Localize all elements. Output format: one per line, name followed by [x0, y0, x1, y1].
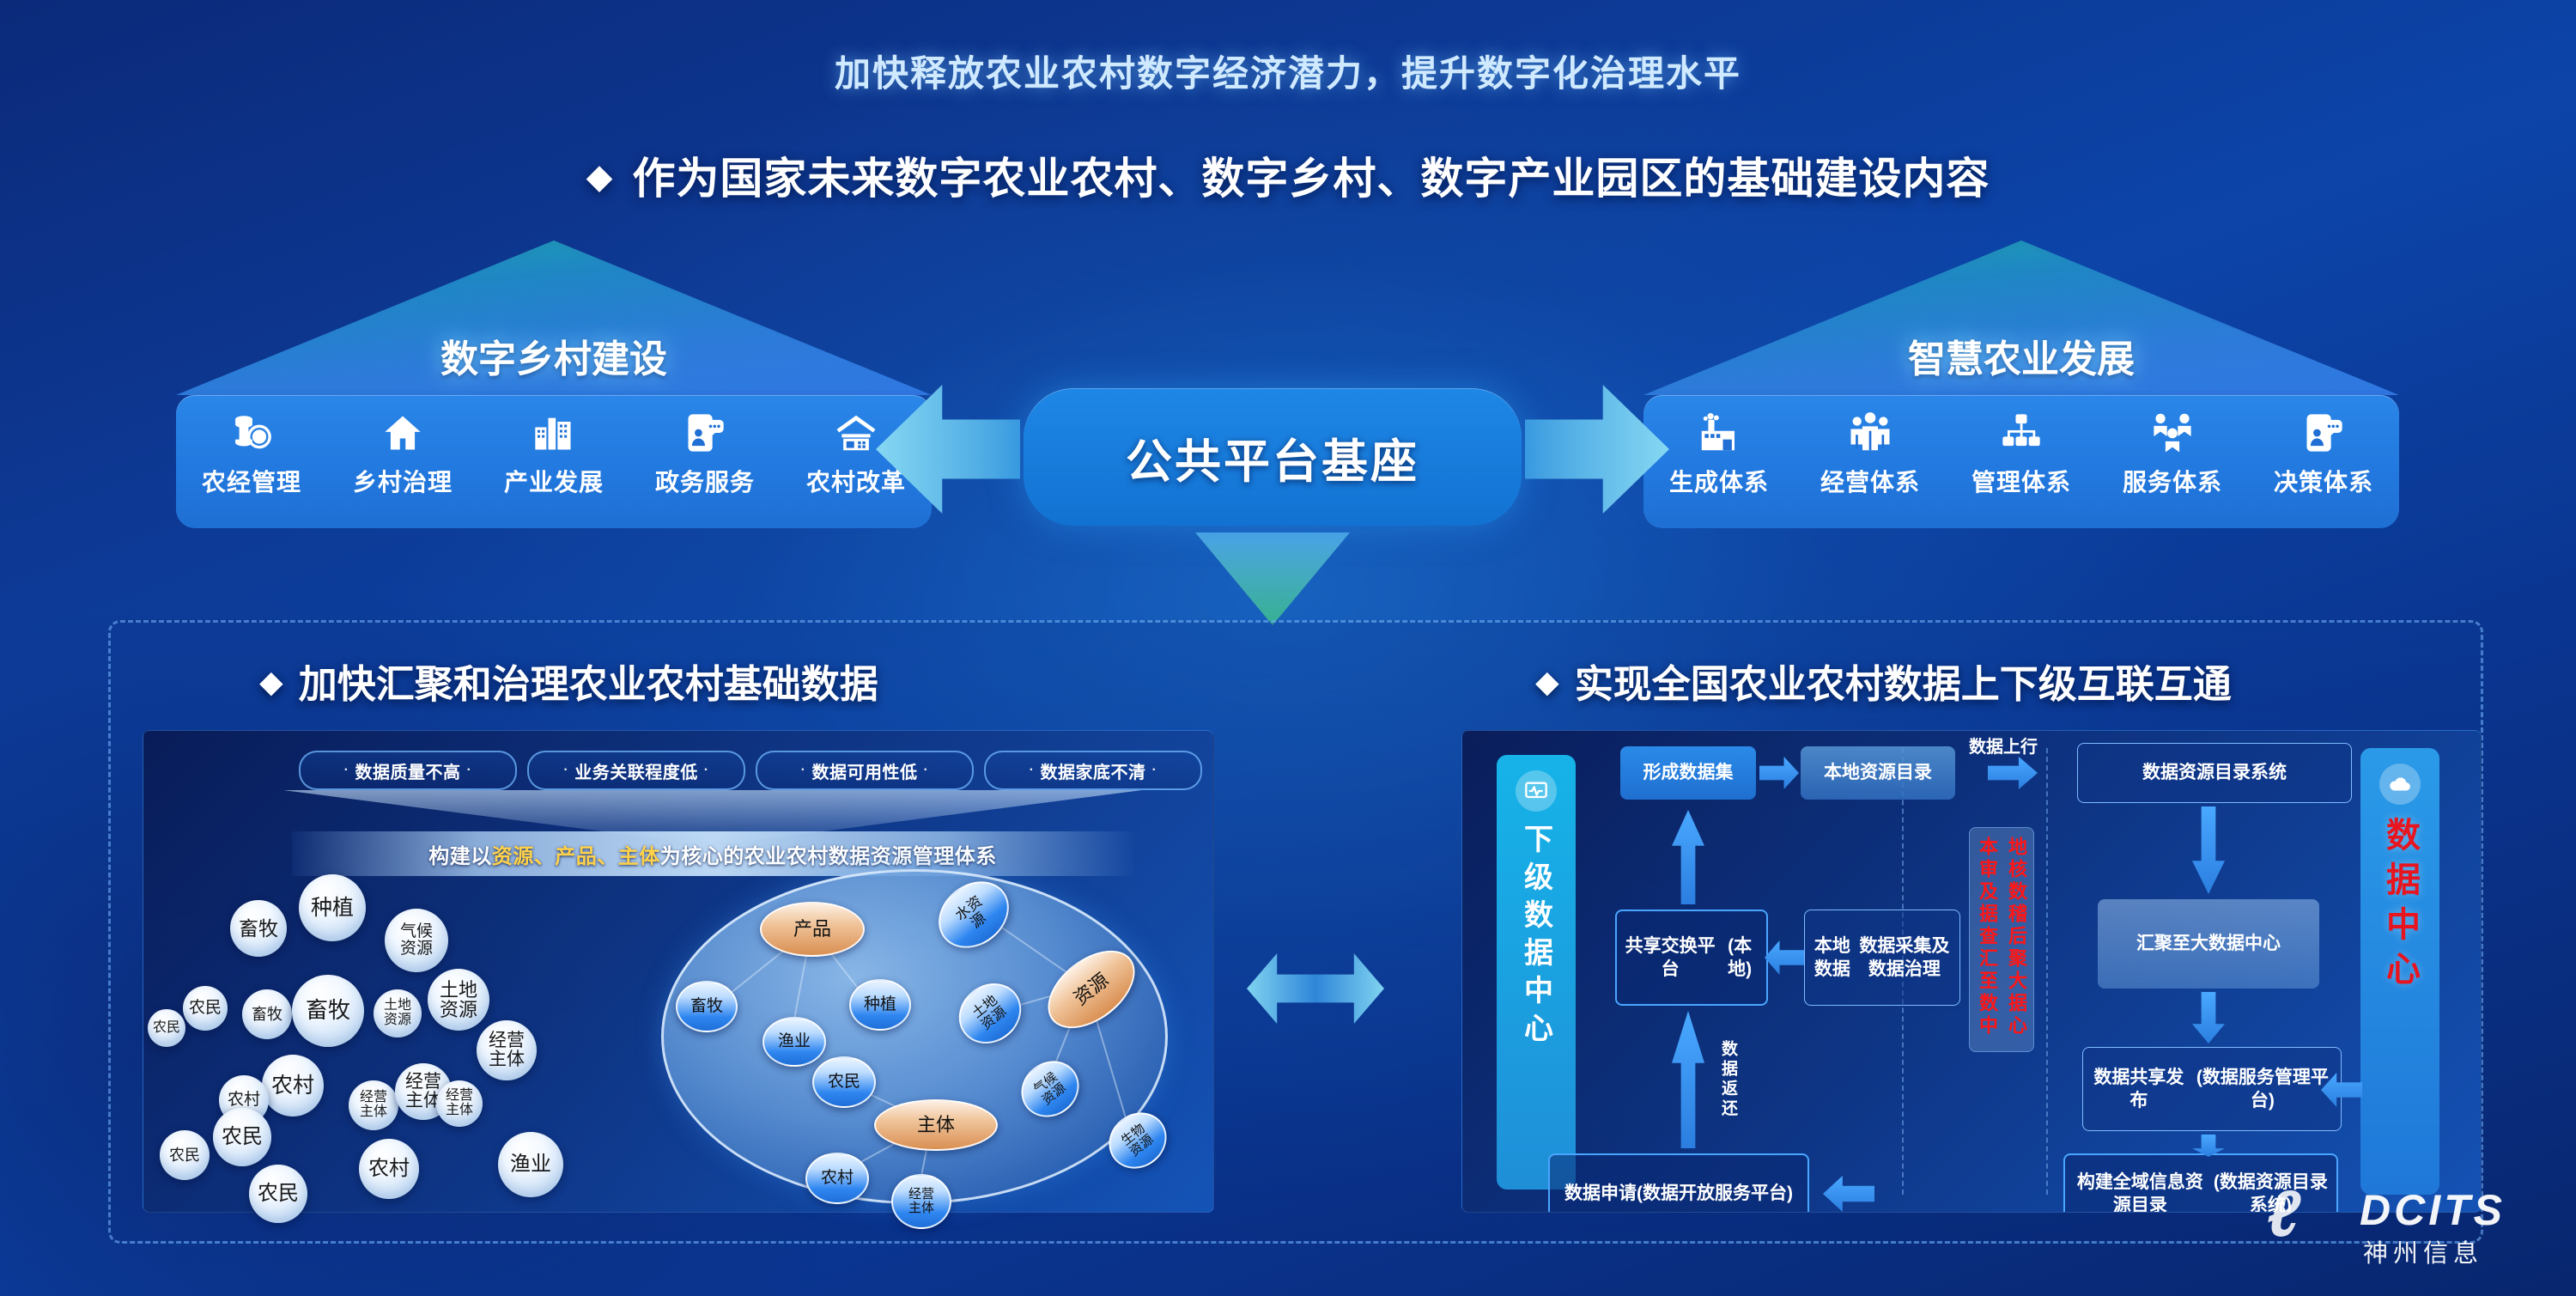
diamond-bullet-icon: ◆	[1535, 664, 1559, 700]
core-banner-prefix: 构建以	[428, 839, 492, 869]
right-item-4-label: 决策体系	[2257, 464, 2391, 498]
core-banner-suffix: 为核心的农业农村数据资源管理体系	[660, 839, 997, 869]
right-section-heading-text: 实现全国农业农村数据上下级互联互通	[1575, 662, 2232, 706]
core-banner-highlight: 资源、产品、主体	[492, 839, 660, 869]
chaos-bubble: 经营主体	[349, 1080, 398, 1130]
chaos-bubble: 经营主体	[436, 1080, 483, 1127]
data-center-label: 数据中心	[2375, 817, 2425, 995]
buildings-icon	[488, 405, 621, 460]
core-node: 产品	[760, 902, 865, 957]
chaos-bubble: 农村	[359, 1139, 419, 1199]
chaos-bubble: 经营主体	[477, 1020, 537, 1080]
data-node: 农村	[805, 1153, 869, 1204]
right-item-0[interactable]: 生成体系	[1653, 405, 1786, 498]
share-exchange-platform[interactable]: 共享交换平台(本地)	[1615, 910, 1768, 1006]
house-icon	[337, 405, 470, 460]
left-item-3[interactable]: 政务服务	[639, 405, 772, 498]
issue-pill-0-label: 数据质量不高	[355, 758, 461, 783]
chaos-bubble: 农民	[213, 1108, 271, 1166]
pill-dot-icon: ·	[1152, 763, 1157, 778]
org-chart-icon	[1955, 405, 2088, 460]
governed-data-ellipse: 产品水资源资源畜牧种植土地资源渔业农民主体气候资源生物资源农村经营主体	[661, 869, 1168, 1204]
data-node: 经营主体	[891, 1174, 951, 1229]
red-note-block: 地核数稽后聚大据心 本审及据查汇至数中	[1969, 827, 2034, 1052]
left-section-heading: ◆加快汇聚和治理农业农村基础数据	[259, 653, 878, 709]
ellipse-outline	[661, 869, 1168, 1204]
right-flow-card: 下级数据中心 数据中心 形成数据集本地资源目录数据资源目录系统共享交换平台(本地…	[1461, 730, 2482, 1213]
left-item-0[interactable]: 农经管理	[185, 405, 319, 498]
flow-arrow-down-1	[2192, 806, 2225, 894]
local-resource-catalog[interactable]: 本地资源目录	[1801, 746, 1955, 800]
local-data-collect-govern[interactable]: 本地数据数据采集及数据治理	[1804, 910, 1960, 1006]
issue-pill-2-label: 数据可用性低	[812, 758, 918, 783]
right-roof-label: 智慧农业发展	[1643, 328, 2399, 383]
public-platform-base[interactable]: 公共平台基座	[1024, 388, 1522, 526]
flow-arrow-right-2	[1988, 757, 2038, 789]
chaos-bubble: 畜牧	[242, 989, 292, 1039]
red-note-line1: 地核数稽后聚大据心	[2002, 837, 2030, 1043]
right-house-block: 智慧农业发展 生成体系 经营体系 管理体系 服务体系 决策体系	[1643, 240, 2399, 528]
logo-name: DCITS	[2360, 1185, 2506, 1235]
chaos-bubble: 土地资源	[374, 989, 422, 1037]
red-note-line2: 本审及据查汇至数中	[1973, 837, 2001, 1043]
chaos-bubble: 畜牧	[230, 900, 287, 957]
page-subtitle-text: 作为国家未来数字农业农村、数字乡村、数字产业园区的基础建设内容	[632, 155, 1990, 203]
flow-arrow-down-2	[2192, 992, 2225, 1043]
issue-pill-0[interactable]: ·数据质量不高·	[299, 751, 517, 790]
chaos-bubble: 农民	[183, 986, 228, 1031]
flow-arrow-up-1	[1672, 810, 1704, 904]
pill-dot-icon: ·	[1030, 763, 1035, 778]
issue-pill-1[interactable]: ·业务关联程度低·	[527, 751, 745, 790]
left-item-3-label: 政务服务	[639, 464, 772, 498]
form-dataset[interactable]: 形成数据集	[1620, 746, 1756, 800]
core-node: 主体	[874, 1099, 998, 1151]
left-house-block: 数字乡村建设 农经管理 乡村治理 产业发展 政务服务 农村改革	[176, 240, 932, 528]
public-platform-label: 公共平台基座	[1126, 423, 1419, 491]
flow-arrow-left-1	[1765, 940, 1804, 975]
right-section-heading: ◆实现全国农业农村数据上下级互联互通	[1535, 653, 2232, 709]
pill-dot-icon: ·	[704, 763, 709, 778]
data-center-bar[interactable]: 数据中心	[2360, 748, 2439, 1195]
chaos-bubble: 农民	[249, 1165, 307, 1223]
data-node: 种植	[849, 979, 911, 1031]
chaos-bubble: 畜牧	[292, 975, 364, 1047]
issue-pill-3-label: 数据家底不清	[1041, 758, 1146, 783]
left-item-1-label: 乡村治理	[337, 464, 470, 498]
issue-pill-2[interactable]: ·数据可用性低·	[756, 751, 974, 790]
left-roof-label: 数字乡村建设	[176, 328, 932, 383]
data-upload-label: 数据上行	[1969, 733, 2038, 758]
right-item-3-label: 服务体系	[2106, 464, 2239, 498]
data-resource-catalog-system[interactable]: 数据资源目录系统	[2077, 743, 2352, 803]
cloud-icon	[2379, 764, 2421, 805]
monitor-pulse-icon	[1516, 770, 1557, 812]
diamond-bullet-icon: ◆	[586, 157, 614, 197]
chaos-bubble: 农民	[148, 1009, 185, 1047]
right-item-4[interactable]: 决策体系	[2257, 405, 2391, 498]
pill-dot-icon: ·	[467, 763, 472, 778]
left-house-base: 农经管理 乡村治理 产业发展 政务服务 农村改革	[176, 395, 932, 528]
right-item-1-label: 经营体系	[1804, 464, 1937, 498]
logo-name-cn: 神州信息	[2363, 1233, 2483, 1269]
right-house-base: 生成体系 经营体系 管理体系 服务体系 决策体系	[1643, 395, 2399, 528]
left-item-1[interactable]: 乡村治理	[337, 405, 470, 498]
factory-icon	[1653, 405, 1786, 460]
data-share-publish[interactable]: 数据共享发布(数据服务管理平台)	[2082, 1047, 2342, 1131]
mobile-decision-icon	[2257, 405, 2391, 460]
chaos-bubble: 种植	[299, 874, 366, 941]
left-section-heading-text: 加快汇聚和治理农业农村基础数据	[299, 662, 878, 706]
pill-dot-icon: ·	[924, 763, 929, 778]
lower-data-center-label: 下级数据中心	[1516, 824, 1558, 1050]
left-item-2-label: 产业发展	[488, 464, 621, 498]
chaos-bubble: 土地资源	[428, 969, 489, 1031]
chaos-bubble: 农村	[262, 1055, 324, 1117]
data-return-label: 数据返还	[1716, 1040, 1740, 1119]
aggregate-to-big-data-center[interactable]: 汇聚至大数据中心	[2098, 899, 2319, 989]
pill-dot-icon: ·	[563, 763, 568, 778]
right-item-3[interactable]: 服务体系	[2106, 405, 2239, 498]
data-node: 农民	[812, 1056, 876, 1108]
right-item-0-label: 生成体系	[1653, 464, 1786, 498]
chaos-bubble: 农民	[160, 1130, 210, 1180]
page-title: 加快释放农业农村数字经济潜力，提升数字化治理水平	[0, 45, 2576, 97]
people-group-icon	[1804, 405, 1937, 460]
data-node: 渔业	[762, 1017, 826, 1067]
flow-arrow-right-1	[1759, 757, 1799, 789]
issue-pill-3[interactable]: ·数据家底不清·	[984, 751, 1202, 790]
money-stack-icon	[185, 405, 319, 460]
right-item-1[interactable]: 经营体系	[1804, 405, 1937, 498]
arrow-down-icon	[1195, 532, 1350, 625]
divider-dashed-2	[2046, 748, 2048, 1195]
people-service-icon	[2106, 405, 2239, 460]
chaos-bubble: 气候资源	[385, 909, 448, 972]
issue-pill-1-label: 业务关联程度低	[574, 758, 698, 783]
mobile-service-icon	[639, 405, 772, 460]
chaos-bubble: 渔业	[498, 1132, 563, 1197]
brand-logo: ℓ DCITS 神州信息	[2267, 1177, 2524, 1271]
left-item-2[interactable]: 产业发展	[488, 405, 621, 498]
right-house-roof: 智慧农业发展	[1643, 240, 2399, 395]
right-item-2-label: 管理体系	[1955, 464, 2088, 498]
data-node: 畜牧	[676, 981, 738, 1032]
pill-dot-icon: ·	[801, 763, 806, 778]
flow-arrow-up-2	[1672, 1011, 1704, 1148]
page-subtitle: ◆作为国家未来数字农业农村、数字乡村、数字产业园区的基础建设内容	[0, 144, 2576, 206]
lower-data-center-bar[interactable]: 下级数据中心	[1497, 755, 1576, 1190]
data-apply[interactable]: 数据申请(数据开放服务平台)	[1548, 1153, 1809, 1213]
pill-dot-icon: ·	[344, 763, 349, 778]
flow-arrow-left-3	[1823, 1176, 1874, 1212]
slide-root: 加快释放农业农村数字经济潜力，提升数字化治理水平 ◆作为国家未来数字农业农村、数…	[0, 0, 2576, 1296]
left-item-0-label: 农经管理	[185, 464, 319, 498]
left-house-roof: 数字乡村建设	[176, 240, 932, 395]
logo-mark-icon: ℓ	[2267, 1182, 2300, 1247]
right-item-2[interactable]: 管理体系	[1955, 405, 2088, 498]
diamond-bullet-icon: ◆	[259, 664, 283, 700]
